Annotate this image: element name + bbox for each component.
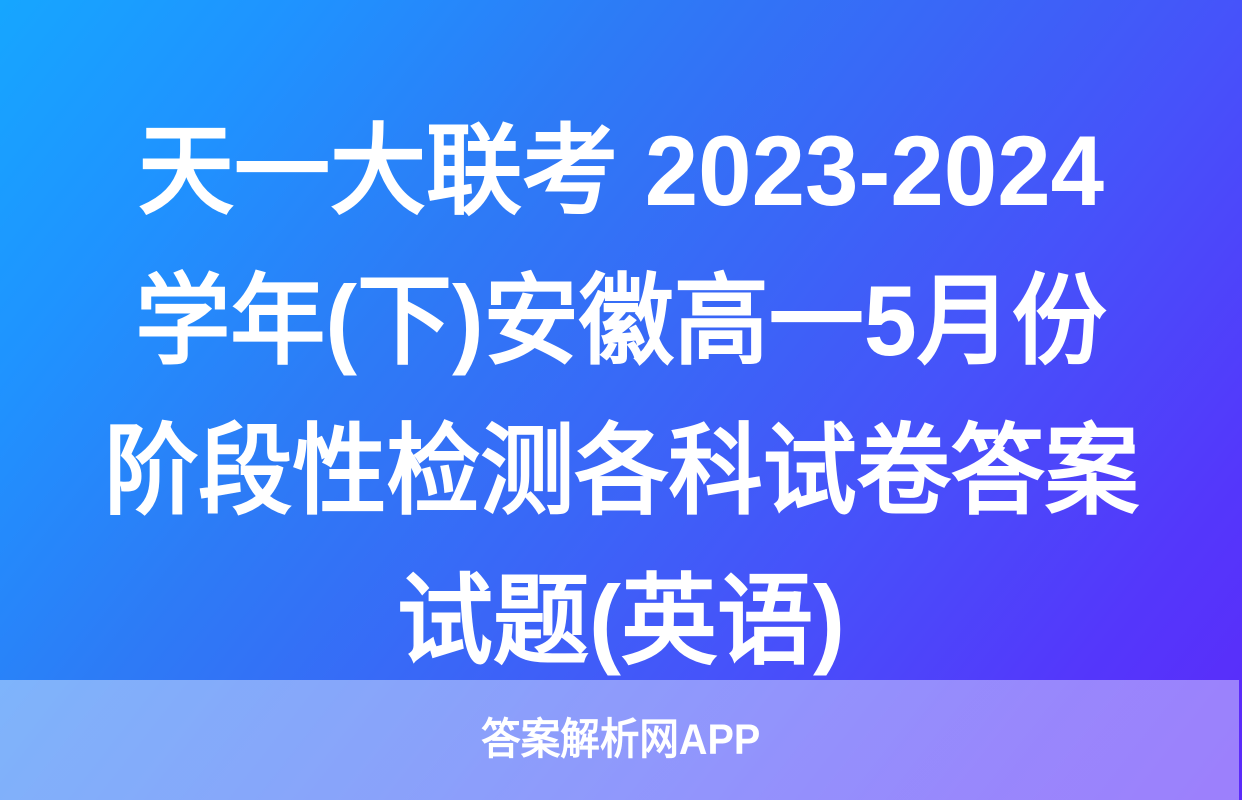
poster-canvas: 天一大联考 2023-2024 学年(下)安徽高一5月份 阶段性检测各科试卷答案…: [0, 0, 1242, 800]
title-line-4: 试题(英语): [397, 546, 845, 696]
footer-watermark-text: 答案解析网APP: [481, 719, 760, 762]
title-line-3: 阶段性检测各科试卷答案: [104, 396, 1139, 546]
footer-watermark-band: 答案解析网APP: [0, 680, 1242, 800]
title-line-1: 天一大联考 2023-2024: [138, 96, 1104, 246]
title-line-2: 学年(下)安徽高一5月份: [135, 246, 1107, 396]
poster-title-block: 天一大联考 2023-2024 学年(下)安徽高一5月份 阶段性检测各科试卷答案…: [0, 96, 1242, 696]
